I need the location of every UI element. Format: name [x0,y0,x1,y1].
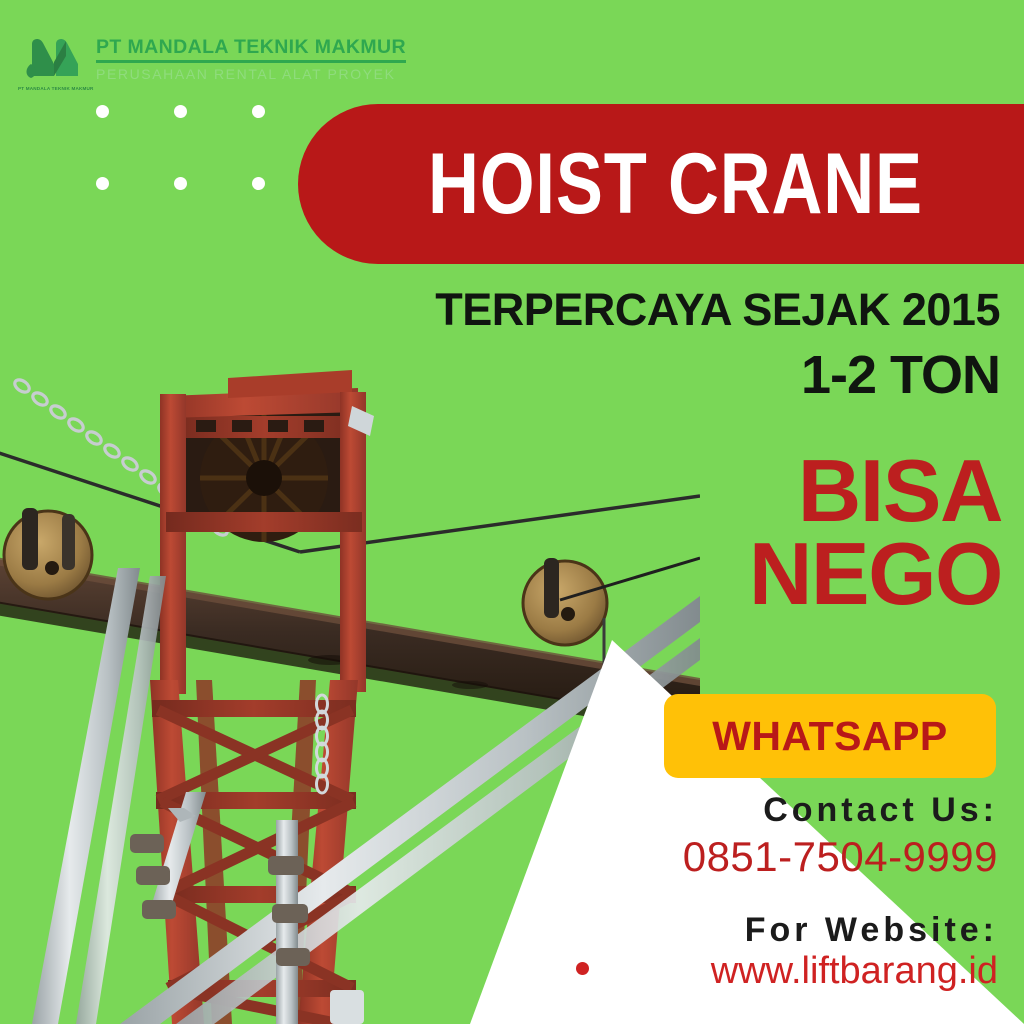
offer-line-2: NEGO [582,533,1002,616]
contact-us-label: Contact Us: [763,793,998,827]
capacity-label: 1-2 TON [801,348,1000,402]
dot [96,177,109,190]
whatsapp-button[interactable]: WHATSAPP [664,694,996,778]
dot [252,177,265,190]
brand-text-block: PT MANDALA TEKNIK MAKMUR PERUSAHAAN RENT… [96,37,406,81]
dot [174,105,187,118]
contact-phone-number[interactable]: 0851-7504-9999 [683,836,998,878]
dot [96,105,109,118]
product-title-banner: HOIST CRANE [298,104,1024,264]
logo-caption: PT MANDALA TEKNIK MAKMUR [18,86,86,91]
bullet-dot-icon [576,962,589,975]
trust-tagline: TERPERCAYA SEJAK 2015 [435,287,1000,332]
website-url[interactable]: www.liftbarang.id [711,952,998,990]
decorative-dot-grid [96,105,266,195]
dot [174,177,187,190]
company-tagline: PERUSAHAAN RENTAL ALAT PROYEK [96,67,406,81]
company-name: PT MANDALA TEKNIK MAKMUR [96,37,406,57]
promo-poster: PT MANDALA TEKNIK MAKMUR PT MANDALA TEKN… [0,0,1024,1024]
whatsapp-button-label: WHATSAPP [712,716,948,757]
offer-line-1: BISA [582,450,1002,533]
offer-block: BISA NEGO [582,450,1002,615]
website-label: For Website: [745,913,998,947]
company-logo-icon: PT MANDALA TEKNIK MAKMUR [18,28,86,90]
dot [252,105,265,118]
brand-divider [96,60,406,63]
product-title: HOIST CRANE [428,141,923,227]
brand-header: PT MANDALA TEKNIK MAKMUR PT MANDALA TEKN… [18,28,406,90]
